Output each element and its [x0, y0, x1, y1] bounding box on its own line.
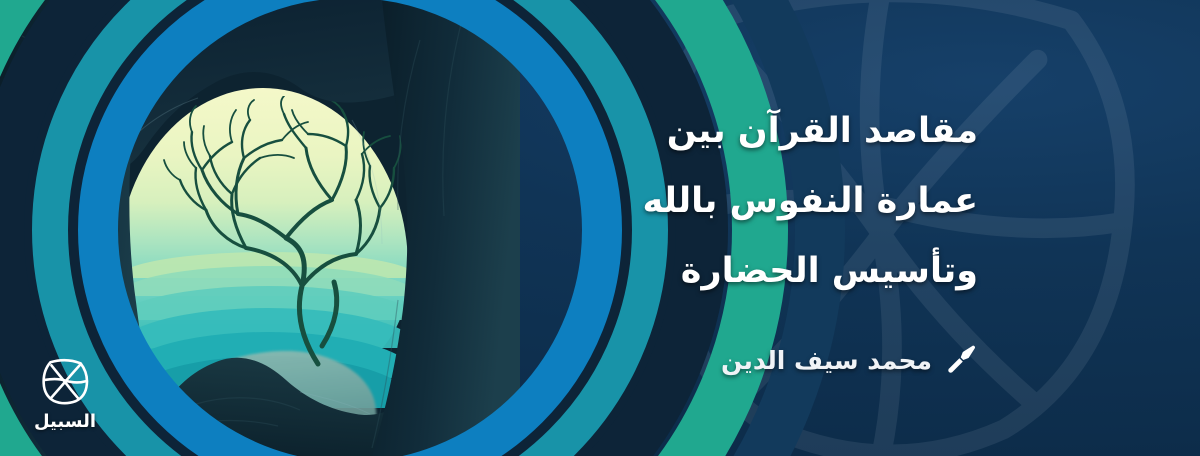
sabeel-logo-mark-icon [39, 355, 91, 407]
pen-nib-icon [944, 343, 978, 377]
title-line-3: وتأسيس الحضارة [618, 236, 978, 306]
article-banner: مقاصد القرآن بين عمارة النفوس بالله وتأس… [0, 0, 1200, 456]
author-byline: محمد سيف الدين [721, 343, 978, 377]
title-line-1: مقاصد القرآن بين [618, 96, 978, 166]
brand-name: السبيل [26, 411, 104, 432]
title-line-2: عمارة النفوس بالله [618, 166, 978, 236]
page-title: مقاصد القرآن بين عمارة النفوس بالله وتأس… [618, 96, 978, 306]
tree-icon [150, 96, 420, 376]
title-block: مقاصد القرآن بين عمارة النفوس بالله وتأس… [618, 96, 978, 306]
brand-logo[interactable]: السبيل [26, 355, 104, 432]
author-name: محمد سيف الدين [721, 346, 932, 375]
